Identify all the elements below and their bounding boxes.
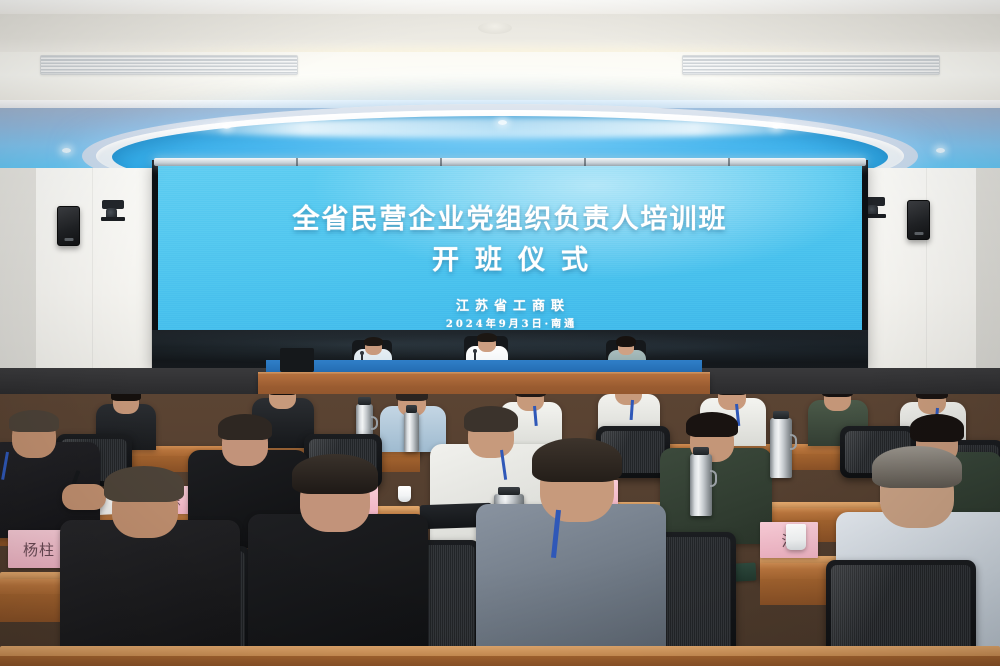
paper-cup (398, 486, 411, 502)
wall-left-return (0, 168, 36, 398)
downlight-icon (222, 124, 231, 129)
ceiling-camera-left-icon (100, 200, 126, 222)
light-bar-seam (440, 158, 442, 166)
paper-cup (786, 524, 806, 550)
screen-light-bar (154, 158, 866, 166)
light-bar-seam (728, 158, 730, 166)
wall-panel-left (34, 168, 152, 392)
wall-speaker-left-icon (57, 206, 80, 246)
wall-speaker-right-icon (907, 200, 930, 240)
wall-panel-seam (92, 168, 93, 392)
audience-area: 封东 明 (0, 394, 1000, 666)
downlight-icon (772, 124, 781, 129)
screen-scanline-overlay (158, 166, 862, 330)
ceiling-top-edge (0, 0, 1000, 14)
air-vent-right-icon (682, 55, 940, 75)
air-vent-left-icon (40, 55, 298, 75)
stage-monitor (280, 348, 314, 372)
smoke-detector-icon (478, 22, 512, 34)
downlight-icon (936, 148, 945, 153)
wall-right-return (976, 168, 1000, 398)
light-bar-seam (584, 158, 586, 166)
thermos-flask (770, 418, 792, 478)
light-bar-seam (296, 158, 298, 166)
conference-hall-photo: 全省民营企业党组织负责人培训班 开班仪式 江苏省工商联 2024年9月3日·南通 (0, 0, 1000, 666)
desk-front-panel (0, 656, 1000, 666)
thermos-flask (404, 412, 419, 452)
downlight-icon (62, 148, 71, 153)
thermos-flask (690, 454, 712, 516)
downlight-icon (498, 120, 507, 125)
